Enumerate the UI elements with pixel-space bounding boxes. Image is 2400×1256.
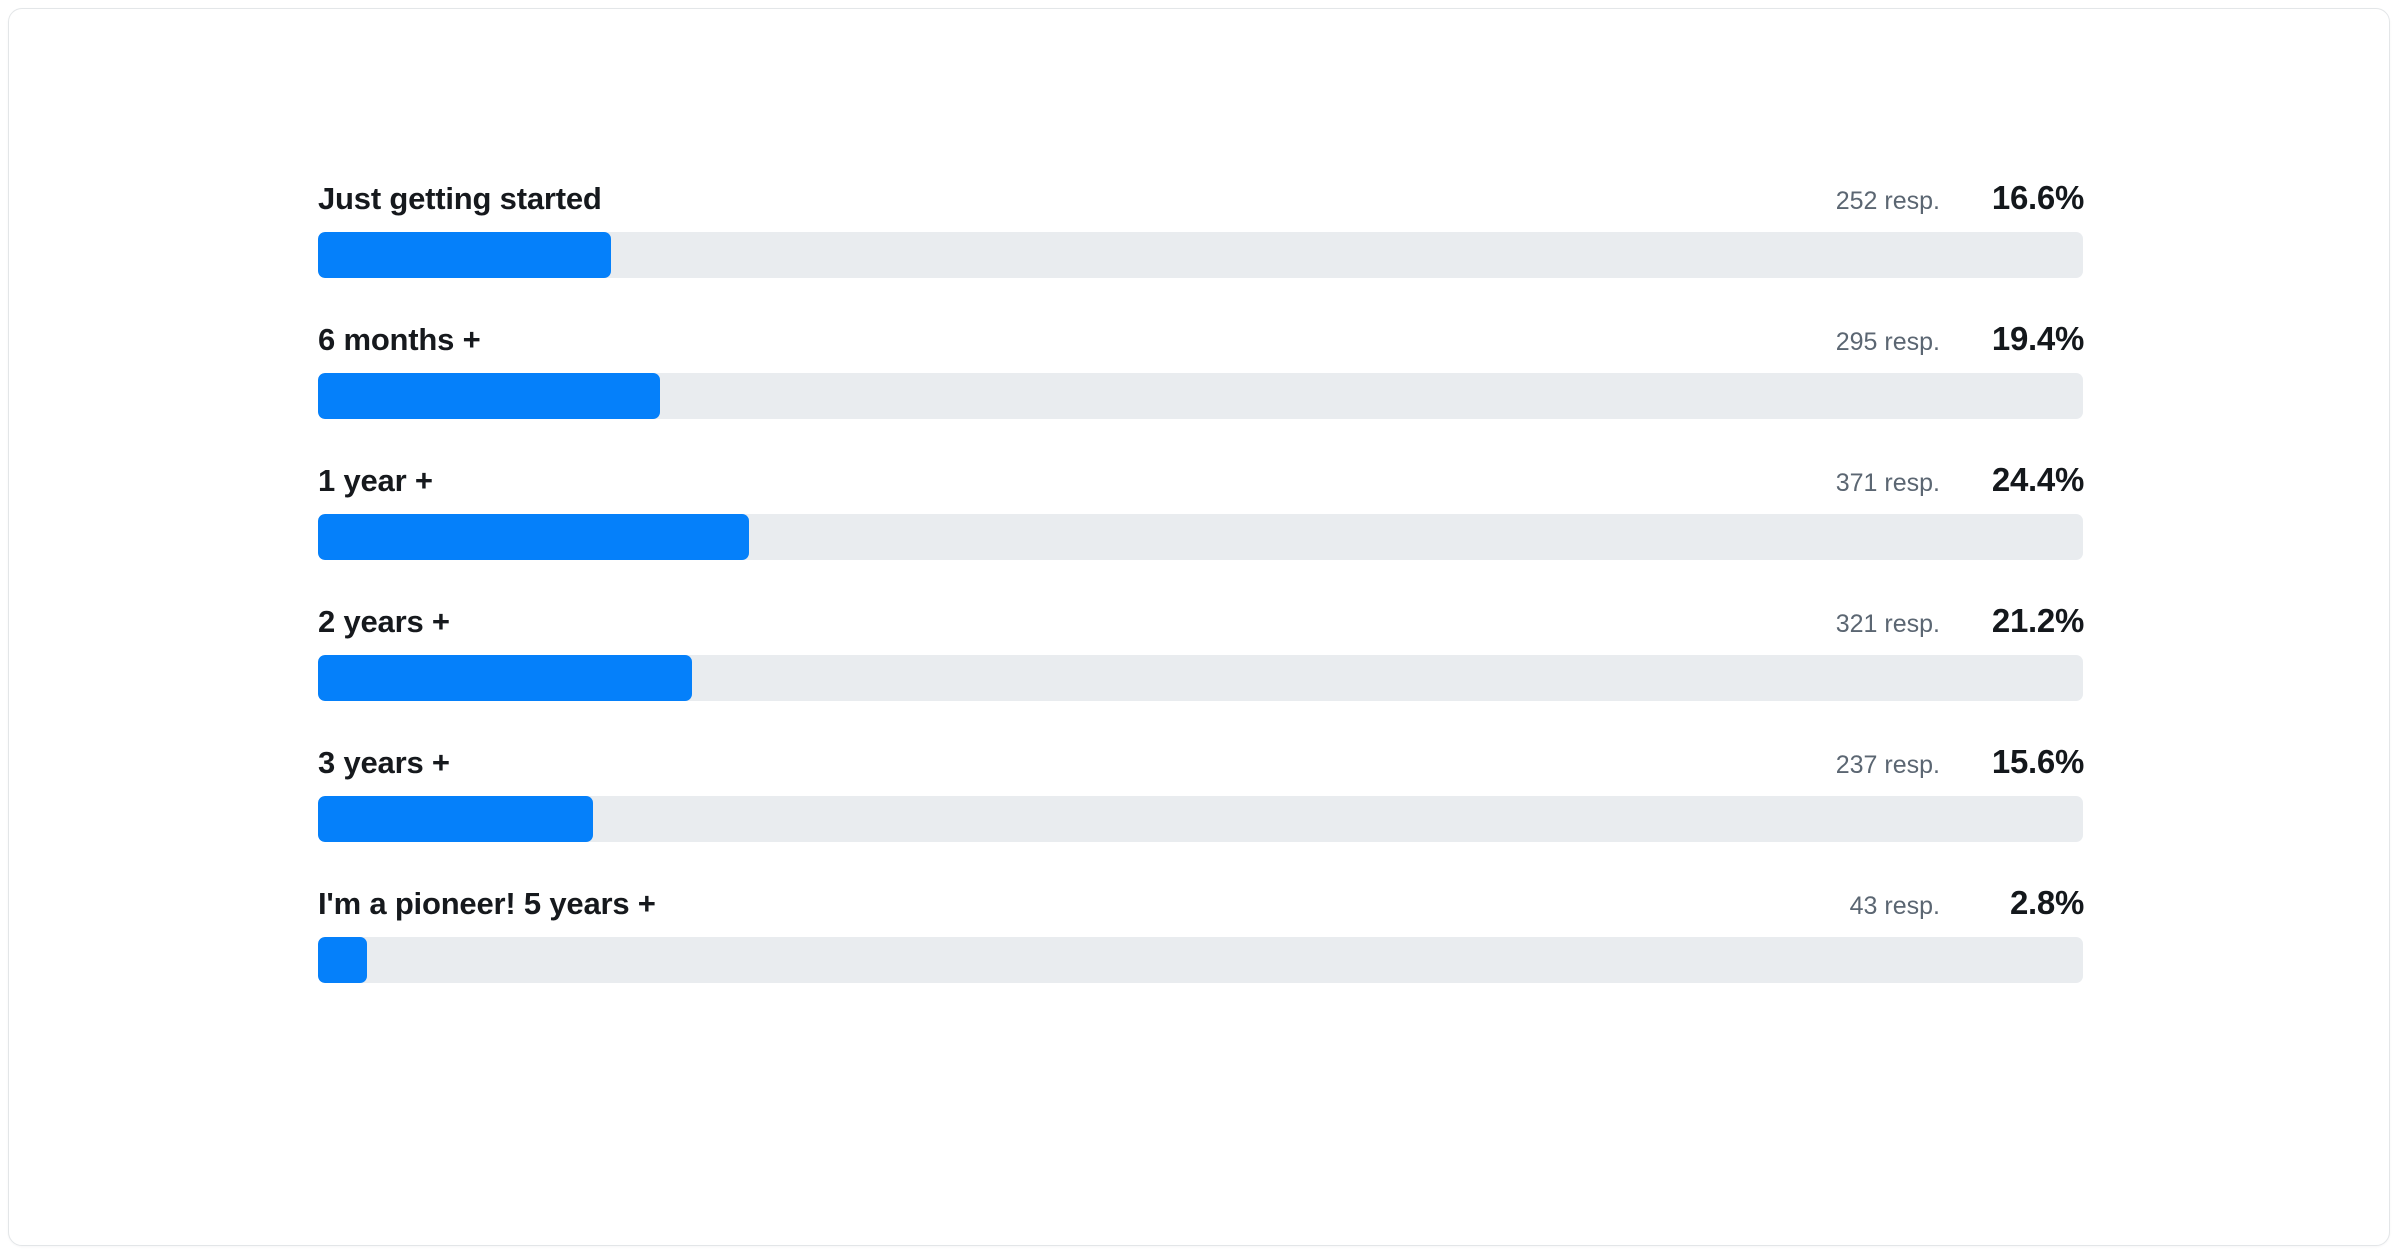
result-row-label: 2 years +: [318, 601, 450, 643]
result-row-responses: 371 resp.: [1836, 462, 1940, 504]
result-row-stats: 252 resp. 16.6%: [1836, 177, 2092, 222]
horizontal-bar-chart: Just getting started 252 resp. 16.6% 6 m…: [318, 177, 2092, 983]
result-row-responses: 321 resp.: [1836, 603, 1940, 645]
result-row-label: I'm a pioneer! 5 years +: [318, 883, 656, 925]
result-row-percent: 24.4%: [1966, 459, 2084, 501]
result-row-label: 6 months +: [318, 319, 481, 361]
bar-track: [318, 796, 2083, 842]
result-row-header: 1 year + 371 resp. 24.4%: [318, 459, 2092, 501]
result-row: 2 years + 321 resp. 21.2%: [318, 600, 2092, 701]
result-row-label: 1 year +: [318, 460, 433, 502]
bar-fill: [318, 937, 367, 983]
bar-track: [318, 514, 2083, 560]
result-row: Just getting started 252 resp. 16.6%: [318, 177, 2092, 278]
bar-fill: [318, 655, 692, 701]
bar-fill: [318, 373, 660, 419]
result-row: 6 months + 295 resp. 19.4%: [318, 318, 2092, 419]
bar-track: [318, 232, 2083, 278]
result-row-percent: 21.2%: [1966, 600, 2084, 642]
result-row-header: 3 years + 237 resp. 15.6%: [318, 741, 2092, 783]
result-row-label: 3 years +: [318, 742, 450, 784]
result-row-stats: 371 resp. 24.4%: [1836, 459, 2092, 504]
result-row-percent: 15.6%: [1966, 741, 2084, 783]
bar-fill: [318, 514, 749, 560]
result-row-percent: 16.6%: [1966, 177, 2084, 219]
result-row-label: Just getting started: [318, 178, 602, 220]
result-row-responses: 295 resp.: [1836, 321, 1940, 363]
result-row: 3 years + 237 resp. 15.6%: [318, 741, 2092, 842]
result-row-percent: 19.4%: [1966, 318, 2084, 360]
results-card: Just getting started 252 resp. 16.6% 6 m…: [8, 8, 2390, 1246]
result-row-responses: 252 resp.: [1836, 180, 1940, 222]
result-row-responses: 237 resp.: [1836, 744, 1940, 786]
result-row-stats: 237 resp. 15.6%: [1836, 741, 2092, 786]
result-row-stats: 321 resp. 21.2%: [1836, 600, 2092, 645]
bar-track: [318, 655, 2083, 701]
bar-track: [318, 373, 2083, 419]
result-row-percent: 2.8%: [1966, 882, 2084, 924]
bar-track: [318, 937, 2083, 983]
result-row-header: Just getting started 252 resp. 16.6%: [318, 177, 2092, 219]
result-row-stats: 43 resp. 2.8%: [1850, 882, 2092, 927]
result-row-header: 6 months + 295 resp. 19.4%: [318, 318, 2092, 360]
bar-fill: [318, 796, 593, 842]
result-row-header: 2 years + 321 resp. 21.2%: [318, 600, 2092, 642]
result-row-header: I'm a pioneer! 5 years + 43 resp. 2.8%: [318, 882, 2092, 924]
result-row: I'm a pioneer! 5 years + 43 resp. 2.8%: [318, 882, 2092, 983]
result-row-stats: 295 resp. 19.4%: [1836, 318, 2092, 363]
result-row: 1 year + 371 resp. 24.4%: [318, 459, 2092, 560]
bar-fill: [318, 232, 611, 278]
result-row-responses: 43 resp.: [1850, 885, 1940, 927]
